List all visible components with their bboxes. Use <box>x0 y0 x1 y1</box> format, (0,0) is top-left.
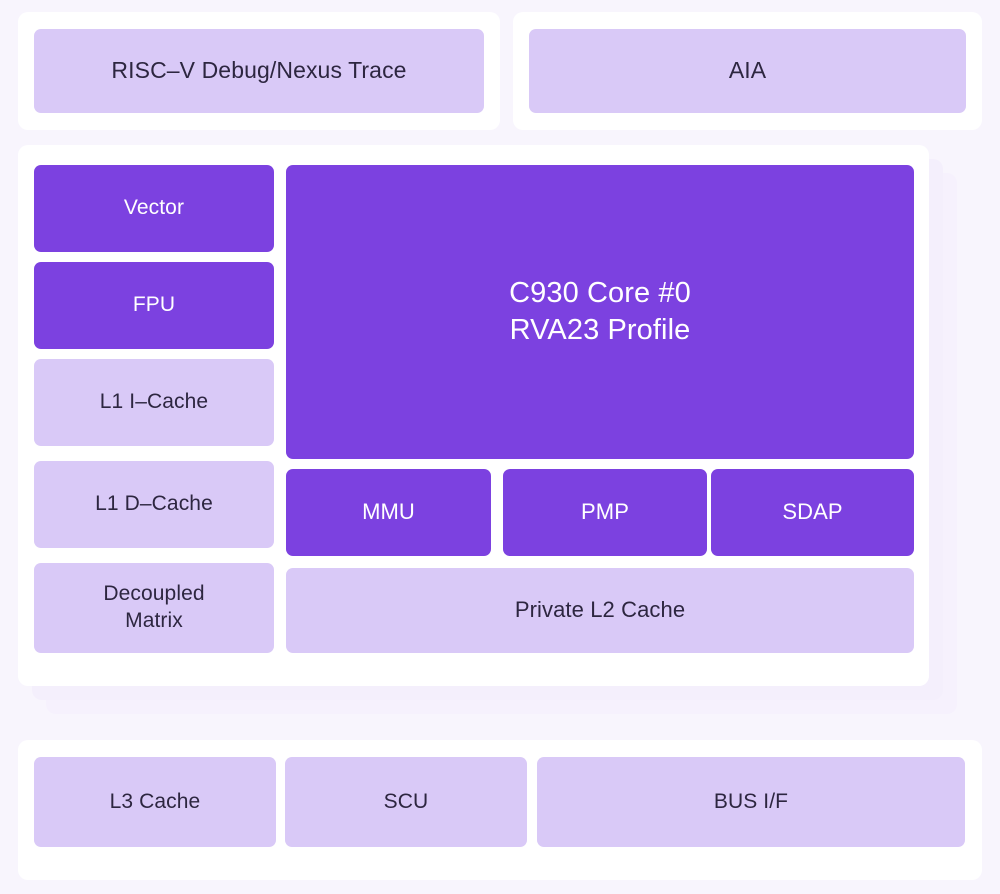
block-aia[interactable]: AIA <box>529 29 966 113</box>
block-pmp[interactable]: PMP <box>503 469 707 556</box>
block-scu[interactable]: SCU <box>285 757 527 847</box>
block-c930-core-0[interactable]: C930 Core #0 RVA23 Profile <box>286 165 914 459</box>
block-decoupled-matrix[interactable]: Decoupled Matrix <box>34 563 274 653</box>
core-complex-block-diagram: RISC–V Debug/Nexus Trace AIA Vector FPU … <box>0 0 1000 894</box>
block-bus-interface[interactable]: BUS I/F <box>537 757 965 847</box>
block-sdap[interactable]: SDAP <box>711 469 914 556</box>
core-title-line-1: C930 Core #0 <box>509 275 691 312</box>
core-title-line-2: RVA23 Profile <box>510 312 691 349</box>
decoupled-matrix-line-1: Decoupled <box>103 581 204 608</box>
block-l1-i-cache[interactable]: L1 I–Cache <box>34 359 274 446</box>
block-fpu[interactable]: FPU <box>34 262 274 349</box>
block-l1-d-cache[interactable]: L1 D–Cache <box>34 461 274 548</box>
block-private-l2-cache[interactable]: Private L2 Cache <box>286 568 914 653</box>
block-vector[interactable]: Vector <box>34 165 274 252</box>
block-l3-cache[interactable]: L3 Cache <box>34 757 276 847</box>
block-risc-v-debug-nexus-trace[interactable]: RISC–V Debug/Nexus Trace <box>34 29 484 113</box>
decoupled-matrix-line-2: Matrix <box>103 608 204 635</box>
debug-nexus-trace-card: RISC–V Debug/Nexus Trace <box>18 12 500 130</box>
c930-core-card: Vector FPU L1 I–Cache L1 D–Cache Decoupl… <box>18 145 929 686</box>
aia-card: AIA <box>513 12 982 130</box>
shared-resources-card: L3 Cache SCU BUS I/F <box>18 740 982 880</box>
block-mmu[interactable]: MMU <box>286 469 491 556</box>
